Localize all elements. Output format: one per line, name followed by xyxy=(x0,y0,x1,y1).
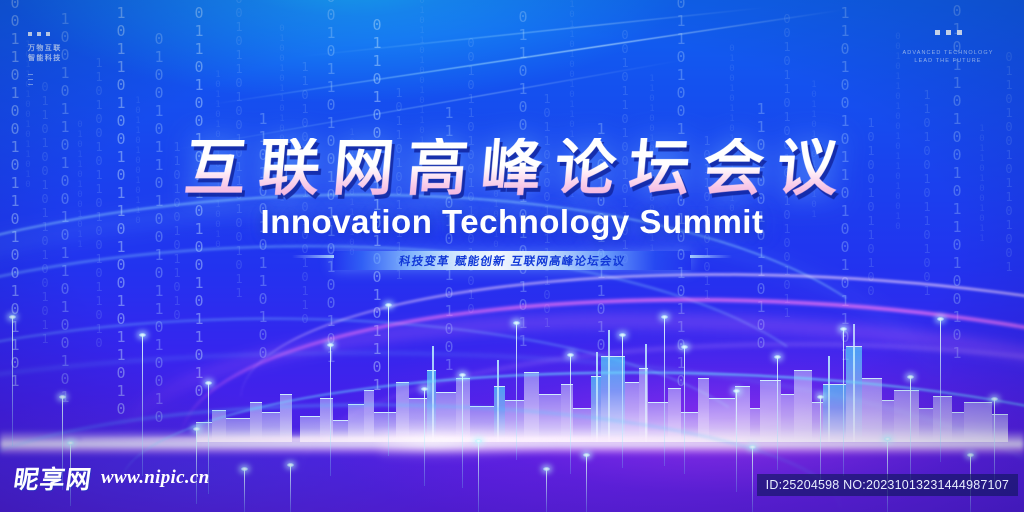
horizon-burst xyxy=(380,424,640,460)
hairline-1 xyxy=(210,9,843,105)
light-pole xyxy=(752,448,753,512)
event-poster: 0011010010110100101101101101001011010011… xyxy=(0,0,1024,512)
headline-block: 互联网高峰论坛会议 xyxy=(0,138,1024,199)
light-pole xyxy=(586,456,587,512)
corner-dots-right xyxy=(894,30,1002,35)
ribbon-tip-left xyxy=(292,255,334,258)
skyline-spire xyxy=(645,344,647,442)
watermark-brand: 昵享网 xyxy=(11,460,94,496)
watermark: 昵享网 www.nipic.cn xyxy=(14,460,210,496)
hairline-3 xyxy=(300,7,768,57)
slogan-text: 科技变革 赋能创新 互联网高峰论坛会议 xyxy=(398,253,627,269)
asset-id-bar: ID:25204598 NO:20231013231444987107 xyxy=(757,474,1018,496)
light-pole xyxy=(244,470,245,512)
page-title-en: Innovation Technology Summit xyxy=(0,203,1024,241)
page-title-cn: 互联网高峰论坛会议 xyxy=(170,138,854,199)
light-pole xyxy=(290,466,291,512)
corner-tl-line2: 智能科技 xyxy=(28,54,62,64)
corner-tl-line1: 万物互联 xyxy=(28,44,62,54)
skyline-spire xyxy=(853,324,855,442)
ribbon-tip-right xyxy=(690,255,732,258)
corner-dots-left xyxy=(28,32,62,36)
corner-tr-line1: ADVANCED TECHNOLOGY xyxy=(894,49,1002,57)
corner-tick-marks xyxy=(28,74,62,85)
watermark-url: www.nipic.cn xyxy=(101,467,209,489)
corner-mark-top-left: 万物互联 智能科技 xyxy=(28,32,62,85)
slogan-ribbon: 科技变革 赋能创新 互联网高峰论坛会议 xyxy=(333,251,691,270)
light-pole xyxy=(546,470,547,512)
city-skyline xyxy=(0,302,1024,442)
corner-mark-top-right: ADVANCED TECHNOLOGY LEAD THE FUTURE xyxy=(894,30,1002,65)
corner-tr-line2: LEAD THE FUTURE xyxy=(894,57,1002,65)
